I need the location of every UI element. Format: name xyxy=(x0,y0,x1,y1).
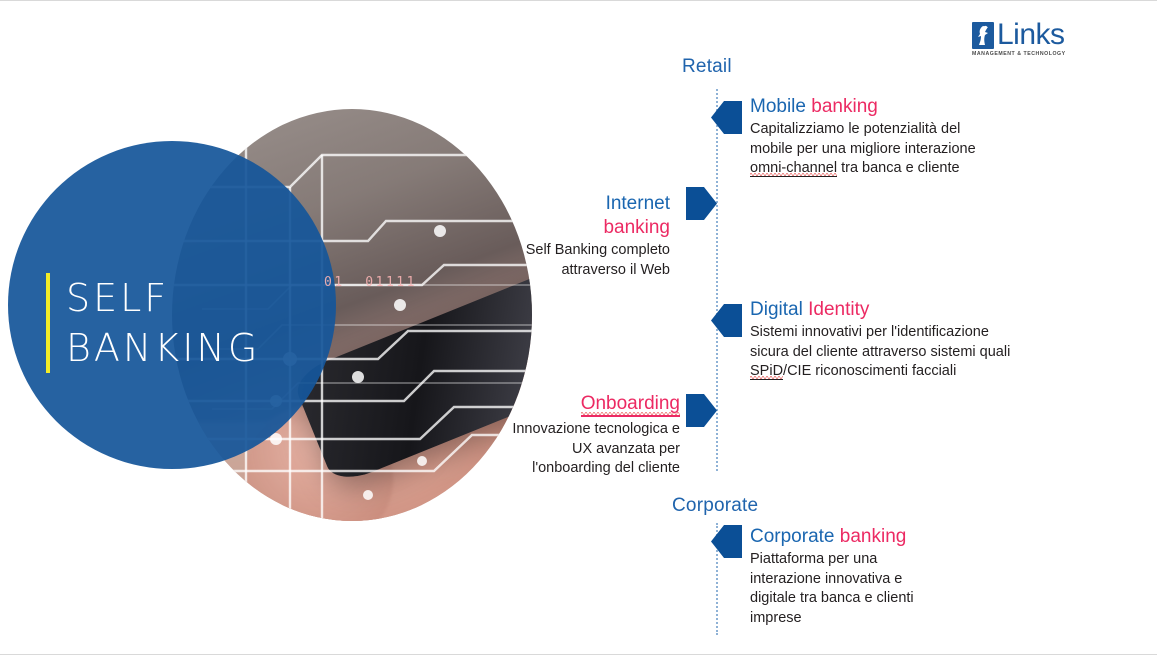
item-mobile-banking[interactable]: Mobile banking Capitalizziamo le potenzi… xyxy=(750,95,1060,179)
item-body-internet-banking: Self Banking completo attraverso il Web xyxy=(400,241,670,280)
item-title-accent: Identity xyxy=(808,299,869,320)
item-body-digital-identity: Sistemi innovativi per l'identificazione… xyxy=(750,323,1080,382)
body-text-post: /CIE riconoscimenti facciali xyxy=(783,363,956,379)
item-title-accent: banking xyxy=(811,96,878,117)
item-title-digital-identity: Digital Identity xyxy=(750,298,1080,322)
links-logo: Links MANAGEMENT & TECHNOLOGY xyxy=(972,21,1070,59)
item-title-primary: Corporate xyxy=(750,526,835,547)
item-body-onboarding: Innovazione tecnologica e UX avanzata pe… xyxy=(400,420,680,479)
body-text-pre: Sistemi innovativi per l'identificazione… xyxy=(750,324,1010,360)
slide-canvas: Links MANAGEMENT & TECHNOLOGY xyxy=(0,0,1157,655)
section-header-corporate: Corporate xyxy=(672,495,758,517)
item-title-internet: Internet xyxy=(400,192,670,216)
item-title-mobile-banking: Mobile banking xyxy=(750,95,1060,119)
item-title-accent: Onboarding xyxy=(581,393,680,417)
hero-title-block: SELF BANKING xyxy=(46,273,260,373)
item-title-primary: Digital xyxy=(750,299,803,320)
logo-wordmark: Links xyxy=(997,21,1065,49)
body-text-pre: Innovazione tecnologica e UX avanzata pe… xyxy=(512,421,680,476)
body-text-post: tra banca e cliente xyxy=(837,160,960,176)
arrow-internet-banking-icon xyxy=(686,187,717,220)
item-onboarding[interactable]: Onboarding Innovazione tecnologica e UX … xyxy=(400,392,680,479)
item-body-mobile-banking: Capitalizziamo le potenzialità del mobil… xyxy=(750,120,1060,179)
item-title-corporate-banking: Corporate banking xyxy=(750,525,1050,549)
binary-overlay-text: 01 01111 xyxy=(324,275,417,290)
item-digital-identity[interactable]: Digital Identity Sistemi innovativi per … xyxy=(750,298,1080,382)
body-text-pre: Piattaforma per una interazione innovati… xyxy=(750,551,914,626)
section-header-retail: Retail xyxy=(682,56,732,78)
item-internet-banking[interactable]: Internet banking Self Banking completo a… xyxy=(400,192,670,280)
item-title-primary: Mobile xyxy=(750,96,806,117)
item-title-internet-second: banking xyxy=(400,216,670,240)
body-text-flagged: SPiD xyxy=(750,363,783,380)
item-title-primary: Internet xyxy=(606,193,670,214)
body-text-flagged: omni-channel xyxy=(750,160,837,177)
logo-tagline: MANAGEMENT & TECHNOLOGY xyxy=(972,51,1070,57)
hero-title: SELF BANKING xyxy=(66,273,260,373)
body-text-pre: Capitalizziamo le potenzialità del mobil… xyxy=(750,121,976,157)
links-bird-mark-icon xyxy=(972,22,994,49)
item-title-onboarding: Onboarding xyxy=(400,392,680,416)
logo-row: Links xyxy=(972,21,1070,49)
item-title-accent: banking xyxy=(603,217,670,238)
arrow-onboarding-icon xyxy=(686,394,717,427)
yellow-accent-bar xyxy=(46,273,50,373)
connector-line-retail xyxy=(716,89,718,471)
item-corporate-banking[interactable]: Corporate banking Piattaforma per una in… xyxy=(750,525,1050,628)
body-text-pre: Self Banking completo attraverso il Web xyxy=(526,242,670,278)
item-body-corporate-banking: Piattaforma per una interazione innovati… xyxy=(750,550,1050,628)
item-title-accent: banking xyxy=(840,526,907,547)
